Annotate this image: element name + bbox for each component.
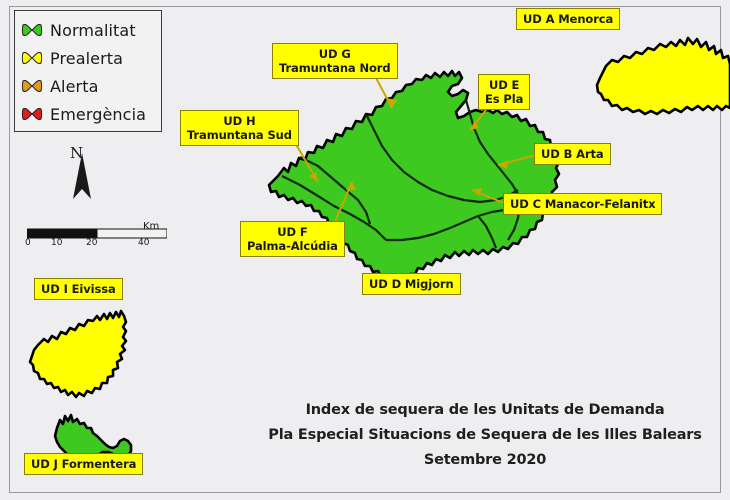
callout-ud-g-tramuntana-nord[interactable]: UD G Tramuntana Nord bbox=[272, 43, 398, 79]
legend-label: Prealerta bbox=[50, 49, 123, 68]
callout-ud-f-palma-alcudia[interactable]: UD F Palma-Alcúdia bbox=[240, 221, 345, 257]
callout-line: UD A Menorca bbox=[523, 12, 613, 26]
callout-line: UD B Arta bbox=[541, 147, 604, 161]
legend-label: Emergència bbox=[50, 105, 146, 124]
callout-line: UD I Eivissa bbox=[41, 282, 116, 296]
callout-line: Es Pla bbox=[485, 92, 523, 106]
callout-ud-e-es-pla[interactable]: UD E Es Pla bbox=[478, 74, 530, 110]
callout-line: Palma-Alcúdia bbox=[247, 239, 338, 253]
legend-item-emergencia: Emergència bbox=[21, 100, 161, 128]
bowtie-swatch-red-icon bbox=[21, 106, 43, 122]
callout-ud-b-arta[interactable]: UD B Arta bbox=[534, 143, 611, 165]
callout-ud-i-eivissa[interactable]: UD I Eivissa bbox=[34, 278, 123, 300]
scalebar-tick-20: 20 bbox=[86, 238, 97, 248]
callout-line: UD H bbox=[187, 114, 292, 128]
callout-ud-a-menorca[interactable]: UD A Menorca bbox=[516, 8, 620, 30]
title-line-2: Pla Especial Situacions de Sequera de le… bbox=[250, 423, 720, 448]
drought-index-map: Normalitat Prealerta Alerta Emergència N bbox=[0, 0, 730, 500]
scalebar-tick-10: 10 bbox=[51, 238, 62, 248]
island-menorca bbox=[597, 38, 730, 114]
scalebar-tick-40: 40 bbox=[138, 238, 149, 248]
legend-label: Normalitat bbox=[50, 21, 136, 40]
legend-item-alerta: Alerta bbox=[21, 72, 161, 100]
title-line-1: Index de sequera de les Unitats de Deman… bbox=[250, 398, 720, 423]
callout-ud-d-migjorn[interactable]: UD D Migjorn bbox=[362, 273, 461, 295]
callout-ud-j-formentera[interactable]: UD J Formentera bbox=[24, 453, 143, 475]
callout-line: UD D Migjorn bbox=[369, 277, 454, 291]
callout-line: UD J Formentera bbox=[31, 457, 136, 471]
title-line-3: Setembre 2020 bbox=[250, 448, 720, 473]
map-title-block: Index de sequera de les Unitats de Deman… bbox=[250, 398, 720, 473]
scalebar-tick-0: 0 bbox=[25, 238, 31, 248]
legend-item-normalitat: Normalitat bbox=[21, 16, 161, 44]
menorca-outline bbox=[597, 38, 730, 114]
callout-line: UD G bbox=[279, 47, 391, 61]
callout-line: UD C Manacor-Felanitx bbox=[510, 197, 655, 211]
bowtie-swatch-orange-icon bbox=[21, 78, 43, 94]
scalebar-unit-label: Km bbox=[143, 221, 159, 232]
callout-line: UD F bbox=[247, 225, 338, 239]
callout-line: UD E bbox=[485, 78, 523, 92]
bowtie-swatch-yellow-icon bbox=[21, 50, 43, 66]
north-arrow-icon bbox=[62, 145, 102, 207]
callout-ud-c-manacor-felanitx[interactable]: UD C Manacor-Felanitx bbox=[503, 193, 662, 215]
bowtie-swatch-green-icon bbox=[21, 22, 43, 38]
callout-ud-h-tramuntana-sud[interactable]: UD H Tramuntana Sud bbox=[180, 110, 299, 146]
legend-label: Alerta bbox=[50, 77, 99, 96]
island-eivissa bbox=[30, 311, 126, 397]
callout-line: Tramuntana Sud bbox=[187, 128, 292, 142]
callout-line: Tramuntana Nord bbox=[279, 61, 391, 75]
legend-item-prealerta: Prealerta bbox=[21, 44, 161, 72]
eivissa-outline bbox=[30, 311, 126, 397]
legend-box: Normalitat Prealerta Alerta Emergència bbox=[14, 10, 162, 132]
